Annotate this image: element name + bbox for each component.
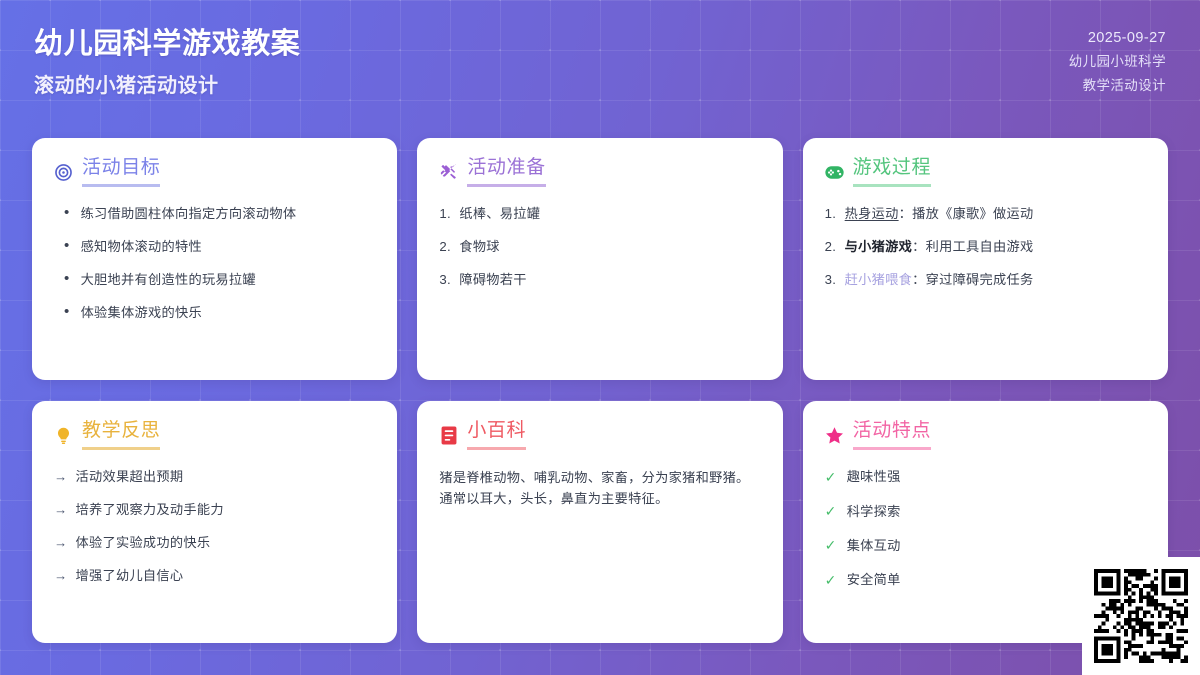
list-item: •感知物体滚动的特性: [54, 237, 375, 256]
list-item: →增强了幼儿自信心: [54, 566, 375, 585]
list-item-text: 体验了实验成功的快乐: [76, 533, 211, 552]
book-icon: [439, 426, 458, 445]
list-item: •体验集体游戏的快乐: [54, 303, 375, 322]
list-marker: →: [54, 533, 68, 552]
star-icon: [825, 426, 844, 445]
card-body-objectives: •练习借助圆柱体向指定方向滚动物体•感知物体滚动的特性•大胆地并有创造性的玩易拉…: [54, 204, 375, 337]
list-item-text: 障碍物若干: [459, 270, 526, 289]
list-item-detail: 利用工具自由游戏: [926, 239, 1034, 254]
card-body-game-process: 1.热身运动：播放《康歌》做运动2.与小猪游戏：利用工具自由游戏3.赶小猪喂食：…: [825, 204, 1146, 303]
list-item-separator: ：: [912, 272, 926, 287]
list-item-text: 增强了幼儿自信心: [76, 566, 184, 585]
list-item: 2.食物球: [439, 237, 760, 256]
list-item-text: 食物球: [459, 237, 499, 256]
header-meta-line-1: 幼儿园小班科学: [1069, 50, 1166, 70]
list-marker: 3.: [825, 270, 840, 289]
list-item-separator: ：: [912, 239, 926, 254]
list-item-text: 安全简单: [847, 570, 901, 589]
list-item-separator: ：: [899, 206, 913, 221]
list-marker: 3.: [439, 270, 454, 289]
list-item-text: 与小猪游戏：利用工具自由游戏: [845, 237, 1034, 256]
list-marker: 1.: [825, 204, 840, 223]
list-item: 1.纸棒、易拉罐: [439, 204, 760, 223]
page-title: 幼儿园科学游戏教案: [34, 26, 300, 62]
list-item: 3.障碍物若干: [439, 270, 760, 289]
list-item-text: 赶小猪喂食：穿过障碍完成任务: [845, 270, 1034, 289]
lightbulb-icon: [54, 426, 73, 445]
list-item-detail: 播放《康歌》做运动: [912, 206, 1033, 221]
list-item: →活动效果超出预期: [54, 467, 375, 486]
list-marker: →: [54, 467, 68, 486]
card-body-reflection: →活动效果超出预期→培养了观察力及动手能力→体验了实验成功的快乐→增强了幼儿自信…: [54, 467, 375, 600]
list-marker: •: [64, 270, 70, 289]
list-marker: 2.: [825, 237, 840, 256]
list-marker: →: [54, 566, 68, 585]
card-title-features: 活动特点: [853, 421, 931, 450]
slide-header: 幼儿园科学游戏教案 滚动的小猪活动设计 2025-09-27 幼儿园小班科学 教…: [0, 0, 1200, 125]
list-item: ✓集体互动: [825, 535, 1146, 555]
card-header-reflection: 教学反思: [54, 421, 375, 450]
card-title-encyclopedia: 小百科: [467, 421, 526, 450]
header-meta-line-2: 教学活动设计: [1069, 74, 1166, 94]
list-item-text: 集体互动: [847, 536, 901, 555]
list-item-lead: 与小猪游戏: [845, 239, 912, 254]
list-marker: ✓: [825, 535, 837, 555]
list-item: →体验了实验成功的快乐: [54, 533, 375, 552]
list-item: ✓科学探索: [825, 501, 1146, 521]
list-item-text: 纸棒、易拉罐: [459, 204, 540, 223]
list-marker: •: [64, 303, 70, 322]
list-item-text: 活动效果超出预期: [76, 467, 184, 486]
card-body-preparation: 1.纸棒、易拉罐2.食物球3.障碍物若干: [439, 204, 760, 303]
card-header-encyclopedia: 小百科: [439, 421, 760, 450]
card-grid: 活动目标•练习借助圆柱体向指定方向滚动物体•感知物体滚动的特性•大胆地并有创造性…: [32, 138, 1168, 643]
list-item-text: 大胆地并有创造性的玩易拉罐: [81, 270, 256, 289]
list-item: 2.与小猪游戏：利用工具自由游戏: [825, 237, 1146, 256]
card-header-preparation: 活动准备: [439, 158, 760, 187]
list-item-text: 趣味性强: [847, 467, 901, 486]
list-marker: ✓: [825, 570, 837, 590]
card-title-preparation: 活动准备: [467, 158, 545, 187]
list-item-text: 感知物体滚动的特性: [81, 237, 202, 256]
list-item-lead: 热身运动: [845, 206, 899, 221]
list-item: •练习借助圆柱体向指定方向滚动物体: [54, 204, 375, 223]
list-item: →培养了观察力及动手能力: [54, 500, 375, 519]
card-encyclopedia: 小百科猪是脊椎动物、哺乳动物、家畜，分为家猪和野猪。通常以耳大，头长，鼻直为主要…: [417, 401, 782, 643]
gamepad-icon: [825, 163, 844, 182]
card-title-objectives: 活动目标: [82, 158, 160, 187]
list-marker: ✓: [825, 467, 837, 487]
card-title-game-process: 游戏过程: [853, 158, 931, 187]
list-item-text: 培养了观察力及动手能力: [76, 500, 224, 519]
tools-icon: [439, 163, 458, 182]
card-body-encyclopedia: 猪是脊椎动物、哺乳动物、家畜，分为家猪和野猪。通常以耳大，头长，鼻直为主要特征。: [439, 467, 760, 510]
card-title-reflection: 教学反思: [82, 421, 160, 450]
list-item-text: 体验集体游戏的快乐: [81, 303, 202, 322]
list-item: ✓趣味性强: [825, 467, 1146, 487]
card-reflection: 教学反思→活动效果超出预期→培养了观察力及动手能力→体验了实验成功的快乐→增强了…: [32, 401, 397, 643]
list-marker: •: [64, 204, 70, 223]
list-marker: 2.: [439, 237, 454, 256]
card-objectives: 活动目标•练习借助圆柱体向指定方向滚动物体•感知物体滚动的特性•大胆地并有创造性…: [32, 138, 397, 380]
card-header-objectives: 活动目标: [54, 158, 375, 187]
qr-code: [1094, 569, 1188, 663]
list-item-detail: 穿过障碍完成任务: [926, 272, 1034, 287]
target-icon: [54, 163, 73, 182]
page-subtitle: 滚动的小猪活动设计: [34, 74, 300, 98]
list-item-lead: 赶小猪喂食: [845, 272, 912, 287]
card-header-features: 活动特点: [825, 421, 1146, 450]
header-title-group: 幼儿园科学游戏教案 滚动的小猪活动设计: [34, 26, 300, 98]
list-item: •大胆地并有创造性的玩易拉罐: [54, 270, 375, 289]
header-meta-group: 2025-09-27 幼儿园小班科学 教学活动设计: [1069, 26, 1166, 94]
header-date: 2025-09-27: [1069, 30, 1166, 46]
card-preparation: 活动准备1.纸棒、易拉罐2.食物球3.障碍物若干: [417, 138, 782, 380]
card-header-game-process: 游戏过程: [825, 158, 1146, 187]
list-marker: ✓: [825, 501, 837, 521]
card-game-process: 游戏过程1.热身运动：播放《康歌》做运动2.与小猪游戏：利用工具自由游戏3.赶小…: [803, 138, 1168, 380]
list-item-text: 热身运动：播放《康歌》做运动: [845, 204, 1034, 223]
list-item-text: 练习借助圆柱体向指定方向滚动物体: [81, 204, 297, 223]
list-marker: →: [54, 500, 68, 519]
list-marker: •: [64, 237, 70, 256]
list-item-text: 科学探索: [847, 502, 901, 521]
list-item: 3.赶小猪喂食：穿过障碍完成任务: [825, 270, 1146, 289]
list-item: 1.热身运动：播放《康歌》做运动: [825, 204, 1146, 223]
list-marker: 1.: [439, 204, 454, 223]
card-paragraph-encyclopedia: 猪是脊椎动物、哺乳动物、家畜，分为家猪和野猪。通常以耳大，头长，鼻直为主要特征。: [439, 467, 760, 510]
qr-code-block[interactable]: [1082, 557, 1200, 675]
